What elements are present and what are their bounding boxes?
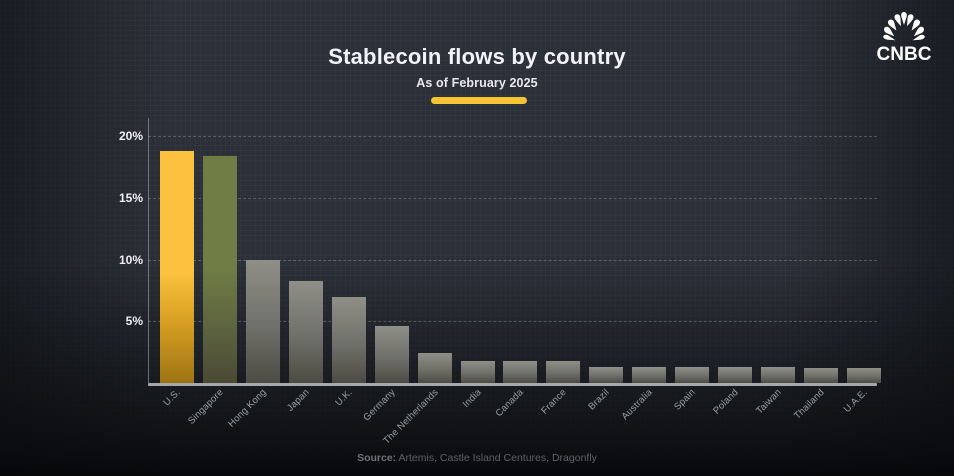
x-axis-line	[148, 383, 877, 386]
bar-group[interactable]: Australia	[620, 118, 663, 383]
x-axis-category-label: U.K.	[333, 387, 354, 408]
bar-group[interactable]: U.K.	[320, 118, 363, 383]
bar[interactable]	[332, 297, 366, 383]
bar-group[interactable]: The Netherlands	[405, 118, 448, 383]
bar[interactable]	[375, 326, 409, 383]
chart-canvas: CNBC Stablecoin flows by country As of F…	[0, 0, 954, 476]
bar-group[interactable]: Germany	[362, 118, 405, 383]
x-axis-category-label: Australia	[620, 387, 655, 422]
bar[interactable]	[589, 367, 623, 383]
y-axis-tick-label: 20%	[119, 129, 143, 143]
bar[interactable]	[289, 281, 323, 383]
bar-group[interactable]: U.A.E.	[834, 118, 877, 383]
bar[interactable]	[761, 367, 795, 383]
x-axis-category-label: U.S.	[162, 387, 183, 408]
y-axis-tick-label: 15%	[119, 191, 143, 205]
bar-group[interactable]: Poland	[705, 118, 748, 383]
x-axis-category-label: Brazil	[587, 387, 612, 412]
bar-group[interactable]: Japan	[277, 118, 320, 383]
x-axis-category-label: France	[540, 387, 570, 417]
bar-group[interactable]: Canada	[491, 118, 534, 383]
accent-underline	[431, 97, 527, 104]
bar[interactable]	[847, 368, 881, 383]
source-value: Artemis, Castle Island Centures, Dragonf…	[396, 452, 597, 464]
x-axis-category-label: Spain	[672, 387, 698, 413]
bar-group[interactable]: Hong Kong	[234, 118, 277, 383]
x-axis-category-label: Hong Kong	[226, 387, 269, 430]
bar[interactable]	[246, 260, 280, 383]
x-axis-category-label: Thailand	[792, 387, 827, 422]
bar[interactable]	[160, 151, 194, 383]
x-axis-category-label: Singapore	[186, 387, 226, 427]
x-axis-category-label: Poland	[711, 387, 741, 417]
bar-group[interactable]: U.S.	[148, 118, 191, 383]
y-axis-tick-label: 5%	[126, 314, 143, 328]
bar-group[interactable]: Thailand	[791, 118, 834, 383]
x-axis-category-label: U.A.E.	[841, 387, 869, 415]
bar-group[interactable]: Spain	[663, 118, 706, 383]
chart-title: Stablecoin flows by country	[0, 44, 954, 70]
x-axis-category-label: Germany	[361, 387, 397, 423]
x-axis-category-label: India	[460, 387, 483, 410]
bar[interactable]	[675, 367, 709, 383]
x-axis-category-label: Canada	[494, 387, 526, 419]
bar[interactable]	[546, 361, 580, 383]
bar[interactable]	[503, 361, 537, 383]
x-axis-category-label: Japan	[285, 387, 312, 414]
bar-group[interactable]: Singapore	[191, 118, 234, 383]
plot-area: 5%10%15%20% U.S.SingaporeHong KongJapanU…	[148, 118, 877, 383]
bar-group[interactable]: Brazil	[577, 118, 620, 383]
x-axis-category-label: Taiwan	[754, 387, 784, 417]
bar[interactable]	[632, 367, 666, 383]
source-note: Source: Artemis, Castle Island Centures,…	[0, 452, 954, 464]
y-axis-tick-label: 10%	[119, 253, 143, 267]
bar-group[interactable]: France	[534, 118, 577, 383]
bar-group[interactable]: India	[448, 118, 491, 383]
bar-series: U.S.SingaporeHong KongJapanU.K.GermanyTh…	[148, 118, 877, 383]
chart-subtitle: As of February 2025	[0, 76, 954, 90]
cnbc-peacock-icon	[883, 12, 925, 40]
source-label: Source:	[357, 452, 396, 464]
bar[interactable]	[203, 156, 237, 383]
bar[interactable]	[718, 367, 752, 383]
bar[interactable]	[418, 353, 452, 383]
bar-group[interactable]: Taiwan	[748, 118, 791, 383]
bar[interactable]	[804, 368, 838, 383]
bar[interactable]	[461, 361, 495, 383]
